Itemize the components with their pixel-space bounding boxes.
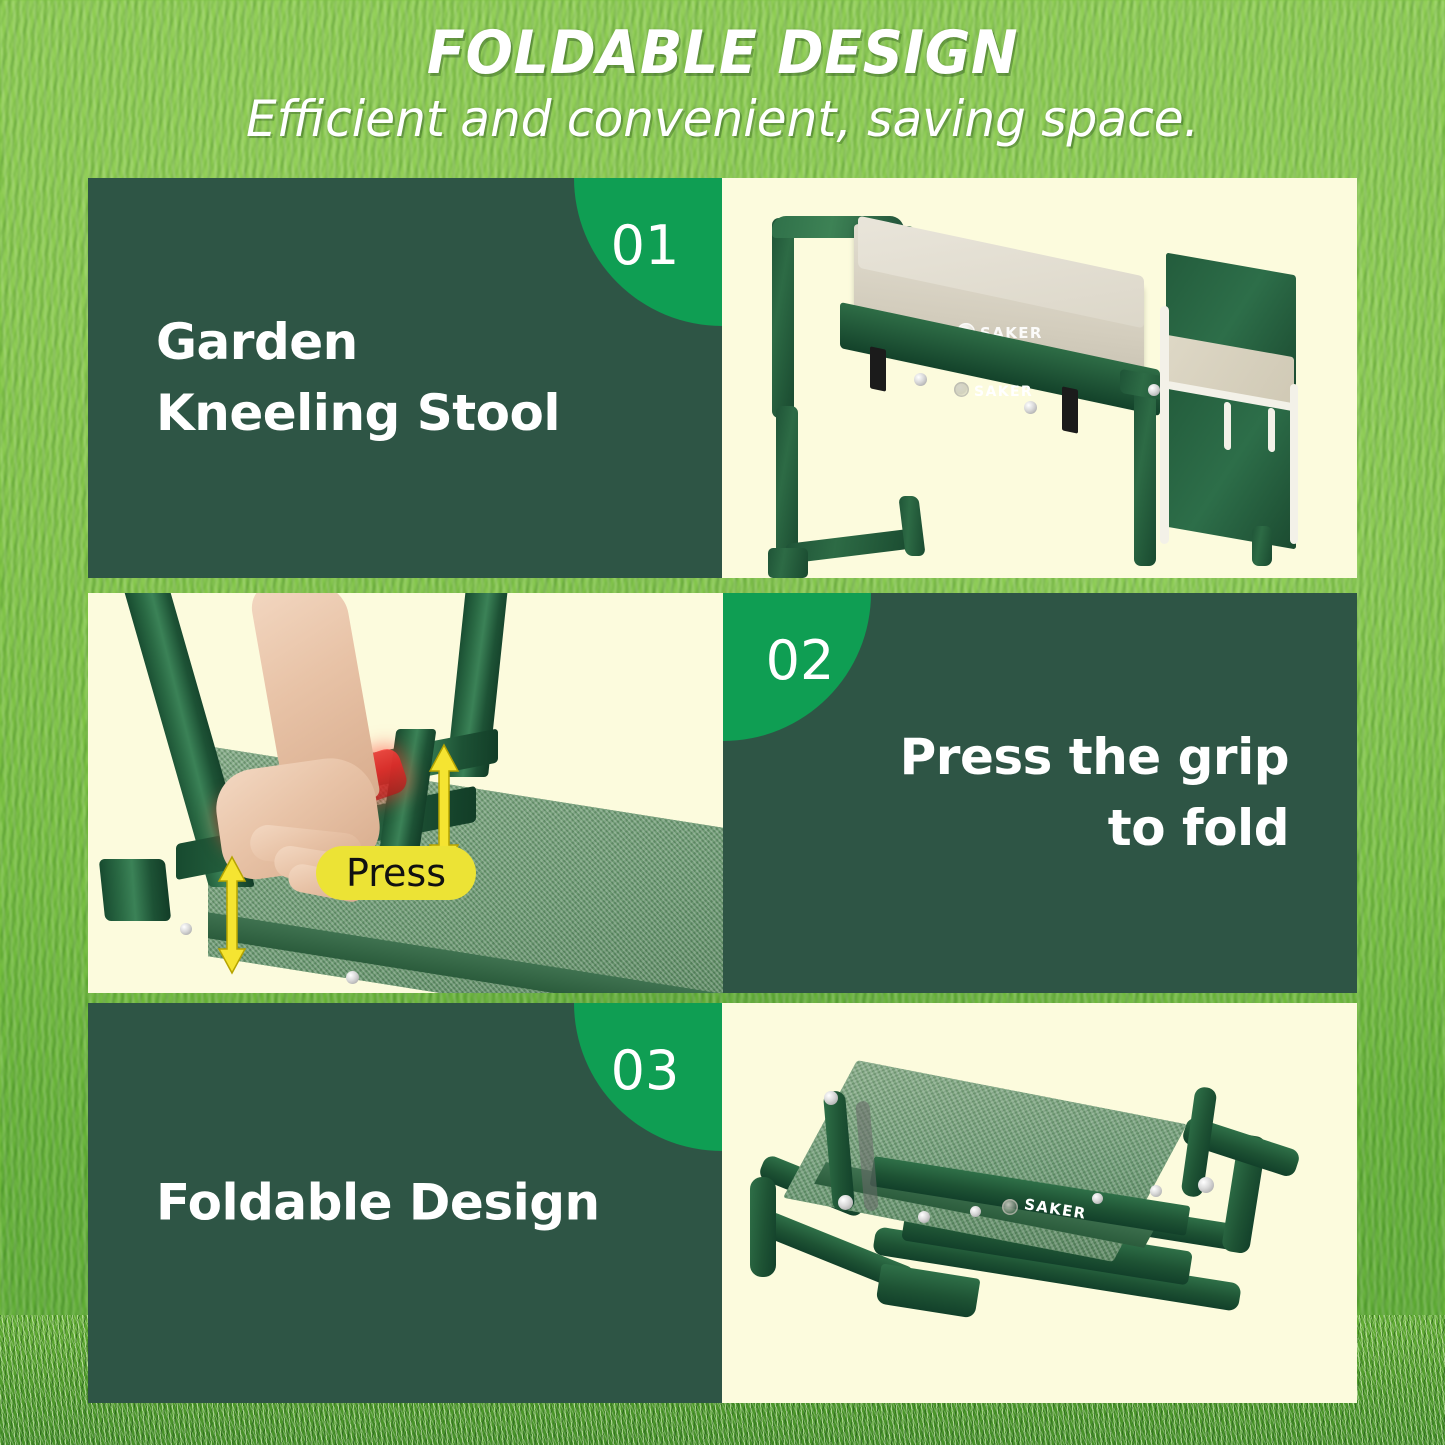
panel-1-image-side: SAKER SAKER: [722, 178, 1357, 578]
panel-3-text-side: Foldable Design 03: [88, 1003, 722, 1403]
step-panel-1: Garden Kneeling Stool 01: [88, 178, 1357, 578]
panel-2-image-side: Press: [88, 593, 723, 993]
page-title: FOLDABLE DESIGN: [51, 0, 1395, 85]
kneeling-stool-upright-illustration: SAKER SAKER: [722, 178, 1357, 578]
press-grip-illustration: Press: [88, 593, 723, 993]
panel-2-heading: Press the grip to fold: [900, 722, 1289, 864]
panel-3-image-side: SAKER: [722, 1003, 1357, 1403]
step-panel-3: Foldable Design 03: [88, 1003, 1357, 1403]
panel-3-heading: Foldable Design: [156, 1168, 600, 1239]
step-badge-02: 02: [723, 593, 871, 741]
step-panel-2: Press Press the grip to fold 02: [88, 593, 1357, 993]
step-badge-01: 01: [574, 178, 722, 326]
panel-1-text-side: Garden Kneeling Stool 01: [88, 178, 722, 578]
header: FOLDABLE DESIGN Efficient and convenient…: [0, 0, 1445, 178]
step-badge-03: 03: [574, 1003, 722, 1151]
saker-brand-text-rail: SAKER: [974, 384, 1033, 400]
page-subtitle: Efficient and convenient, saving space.: [22, 85, 1424, 146]
press-callout-label: Press: [316, 846, 476, 900]
panel-2-text-side: Press the grip to fold 02: [723, 593, 1357, 993]
folded-stool-illustration: SAKER: [722, 1003, 1357, 1403]
saker-logo-icon-folded: [1002, 1199, 1018, 1215]
step-number-02: 02: [766, 629, 835, 692]
panel-1-heading: Garden Kneeling Stool: [156, 307, 560, 449]
saker-logo-icon-rail: [954, 382, 969, 397]
press-callout-text: Press: [346, 851, 446, 895]
step-number-03: 03: [611, 1039, 680, 1102]
step-number-01: 01: [611, 214, 680, 277]
up-down-arrow-icon-left: [214, 855, 250, 975]
